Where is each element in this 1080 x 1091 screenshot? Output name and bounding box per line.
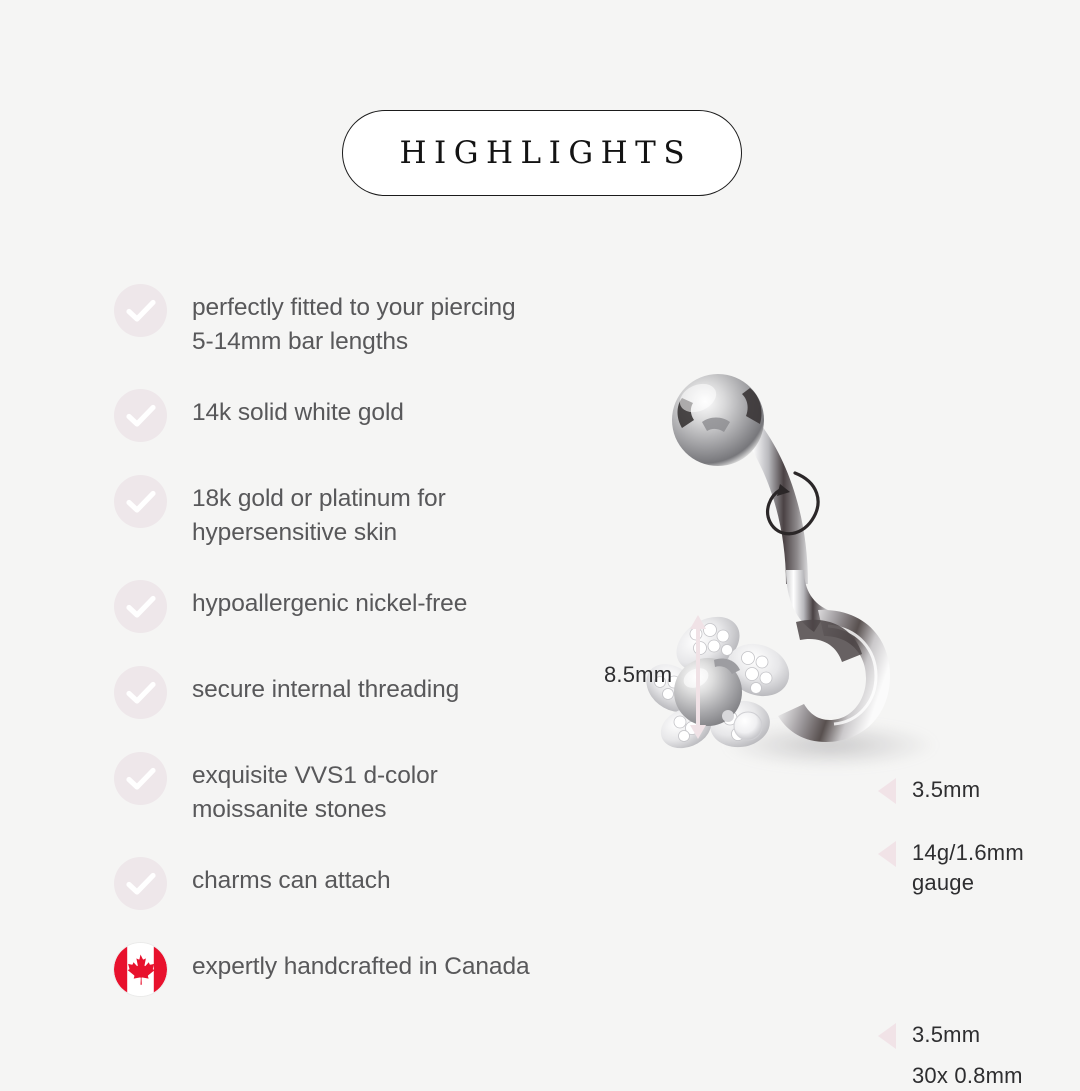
annotation-label: 14g/1.6mm gauge	[912, 838, 1024, 898]
triangle-marker-icon	[878, 841, 896, 867]
highlights-header-pill: HIGHLIGHTS	[342, 110, 742, 196]
check-icon	[114, 284, 167, 337]
list-item-label: expertly handcrafted in Canada	[192, 943, 530, 984]
list-item: charms can attach	[114, 857, 634, 910]
belly-ring-product-illustration	[590, 370, 1080, 790]
list-item-label: charms can attach	[192, 857, 390, 898]
list-item-label: exquisite VVS1 d-color moissanite stones	[192, 752, 438, 827]
list-item-label: 14k solid white gold	[192, 389, 404, 430]
height-dimension-arrow	[688, 613, 708, 741]
list-item: 18k gold or platinum for hypersensitive …	[114, 475, 634, 550]
list-item: expertly handcrafted in Canada	[114, 943, 634, 996]
product-image-area: 8.5mm 3.5mm 14g/1.6mm gauge 3.5mm 30x 0.…	[590, 370, 1080, 790]
triangle-marker-icon	[878, 778, 896, 804]
canada-flag-icon	[114, 943, 167, 996]
annotation-label: 30x 0.8mm	[912, 1061, 1023, 1091]
list-item: secure internal threading	[114, 666, 634, 719]
check-icon	[114, 666, 167, 719]
list-item: hypoallergenic nickel-free	[114, 580, 634, 633]
list-item: 14k solid white gold	[114, 389, 634, 442]
list-item-label: perfectly fitted to your piercing 5-14mm…	[192, 284, 516, 359]
triangle-marker-icon	[878, 1023, 896, 1049]
check-icon	[114, 475, 167, 528]
check-icon	[114, 580, 167, 633]
highlights-list: perfectly fitted to your piercing 5-14mm…	[114, 284, 634, 1029]
check-icon	[114, 857, 167, 910]
list-item-label: hypoallergenic nickel-free	[192, 580, 467, 621]
annotation-stone-size: 3.5mm	[878, 1020, 980, 1050]
annotation-label: 3.5mm	[912, 775, 980, 805]
list-item-label: 18k gold or platinum for hypersensitive …	[192, 475, 446, 550]
dimension-label-height: 8.5mm	[604, 662, 672, 688]
check-icon	[114, 389, 167, 442]
list-item: exquisite VVS1 d-color moissanite stones	[114, 752, 634, 827]
annotation-ball-size: 3.5mm	[878, 775, 980, 805]
annotation-stone-count: 30x 0.8mm	[912, 1061, 1023, 1091]
list-item-label: secure internal threading	[192, 666, 459, 707]
annotation-label: 3.5mm	[912, 1020, 980, 1050]
page-title: HIGHLIGHTS	[392, 138, 692, 169]
check-icon	[114, 752, 167, 805]
annotation-gauge: 14g/1.6mm gauge	[878, 838, 1024, 898]
list-item: perfectly fitted to your piercing 5-14mm…	[114, 284, 634, 359]
